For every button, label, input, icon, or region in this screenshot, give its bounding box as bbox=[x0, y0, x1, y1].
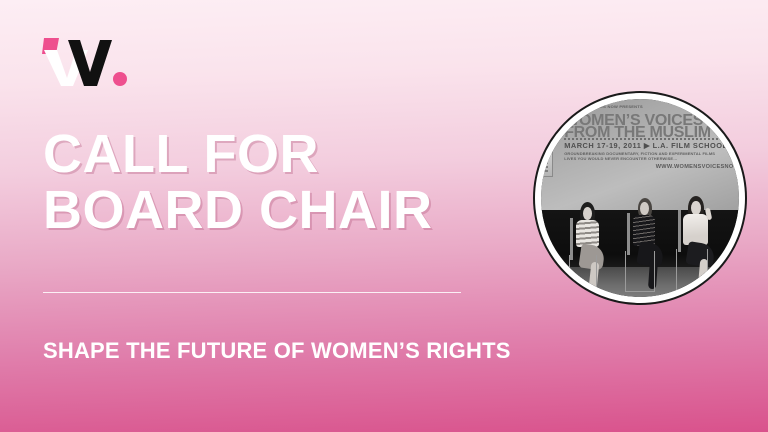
panel-discussion-photo: WOMEN’S VOICES NOW PRESENTS WOMEN’S VOIC… bbox=[535, 93, 745, 303]
divider-rule bbox=[43, 292, 461, 293]
headline-line-2: BOARD CHAIR bbox=[43, 182, 513, 238]
panelist-center bbox=[624, 198, 675, 293]
screen-body-line-2: LIVES YOU WOULD NEVER ENCOUNTER OTHERWIS… bbox=[564, 157, 677, 161]
screen-date-line: MARCH 17-19, 2011 ▶ L.A. FILM SCHOOL bbox=[564, 142, 727, 149]
headline-line-1: CALL FOR bbox=[43, 126, 513, 182]
wall-poster-board bbox=[541, 145, 553, 176]
screen-url: WWW.WOMENSVOICESNOW.ORG bbox=[656, 165, 739, 171]
logo-dot bbox=[113, 72, 127, 86]
brand-logo[interactable] bbox=[42, 36, 132, 88]
panelist-left bbox=[569, 202, 620, 293]
subtitle: SHAPE THE FUTURE OF WOMEN’S RIGHTS bbox=[43, 338, 511, 364]
panelist-right bbox=[676, 196, 731, 293]
screen-dashed-rule bbox=[564, 138, 739, 140]
poster-canvas: CALL FOR BOARD CHAIR SHAPE THE FUTURE OF… bbox=[0, 0, 768, 432]
page-title: CALL FOR BOARD CHAIR bbox=[43, 126, 513, 238]
screen-presents-line: WOMEN’S VOICES NOW PRESENTS bbox=[567, 105, 643, 109]
photo-inner: WOMEN’S VOICES NOW PRESENTS WOMEN’S VOIC… bbox=[541, 99, 739, 297]
